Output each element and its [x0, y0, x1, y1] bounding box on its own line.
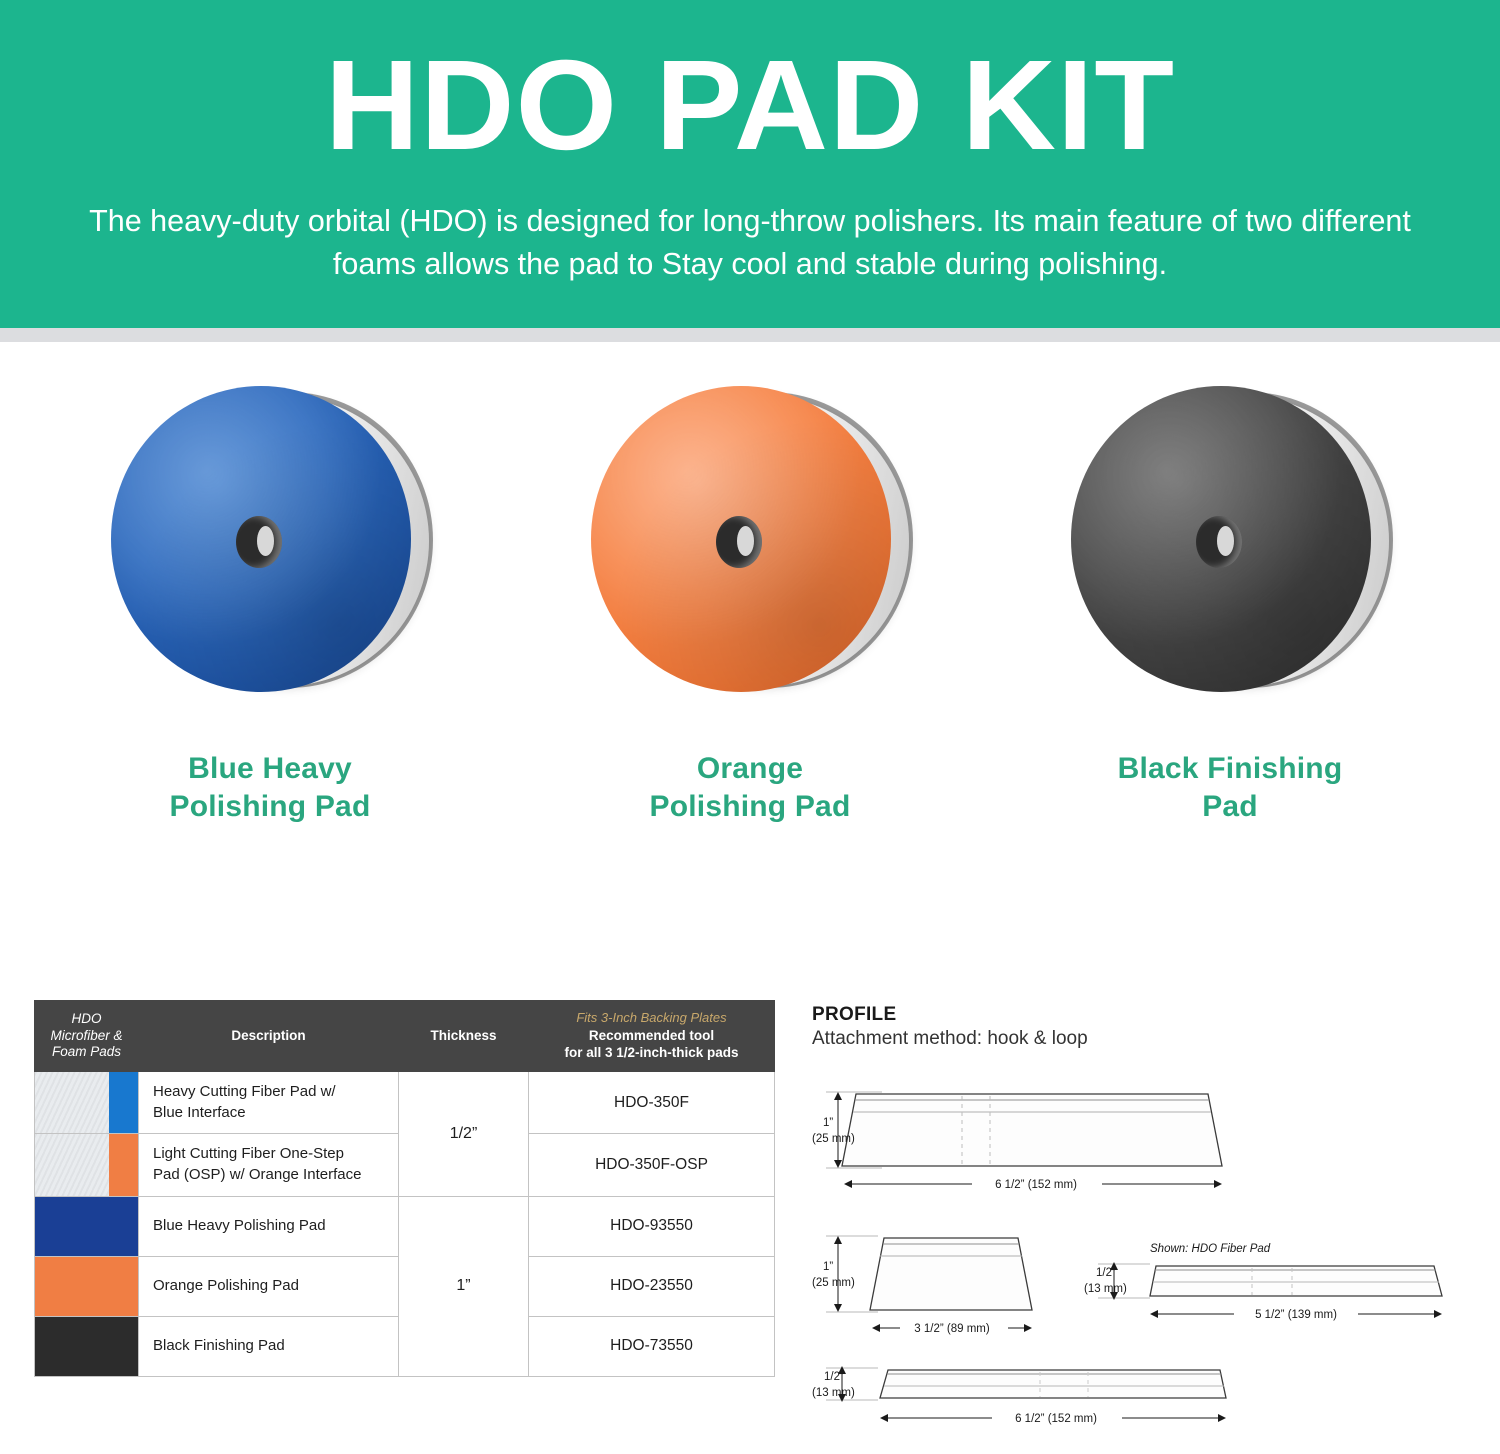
profile-figure-6half-thick: 6 1/2” (152 mm) 1” (25 mm) — [812, 1080, 1252, 1200]
swatch-header-line3: Foam Pads — [52, 1044, 121, 1059]
interface-stripe-orange — [109, 1134, 138, 1195]
page-title: HDO PAD KIT — [0, 42, 1500, 170]
pad-label-line1: Blue Heavy — [20, 750, 520, 788]
cell-description: Blue Heavy Polishing Pad — [139, 1196, 399, 1256]
spec-table-wrapper: HDO Microfiber & Foam Pads Description T… — [34, 1000, 774, 1377]
cell-description: Orange Polishing Pad — [139, 1256, 399, 1316]
fig2-width-label: 3 1/2” (89 mm) — [914, 1323, 990, 1335]
fig4-width-label: 6 1/2” (152 mm) — [1015, 1413, 1097, 1425]
description-line2: Blue Interface — [153, 1104, 246, 1121]
fig1-height-line2: (25 mm) — [812, 1133, 855, 1145]
swatch-solid-orange — [35, 1256, 139, 1316]
table-header-row: HDO Microfiber & Foam Pads Description T… — [35, 1001, 775, 1072]
swatch-fiber-orange — [35, 1134, 139, 1196]
cell-description: Light Cutting Fiber One-Step Pad (OSP) w… — [139, 1134, 399, 1196]
cell-tool: HDO-350F — [529, 1072, 775, 1134]
pad-label-line1: Black Finishing — [980, 750, 1480, 788]
pad-card-black: Black Finishing Pad — [980, 360, 1480, 920]
column-header-swatch: HDO Microfiber & Foam Pads — [35, 1001, 139, 1072]
header-banner: HDO PAD KIT The heavy-duty orbital (HDO)… — [0, 0, 1500, 328]
cell-tool: HDO-73550 — [529, 1316, 775, 1376]
column-header-thickness: Thickness — [399, 1001, 529, 1072]
pad-card-blue: Blue Heavy Polishing Pad — [20, 360, 520, 920]
table-row: Blue Heavy Polishing Pad 1” HDO-93550 — [35, 1196, 775, 1256]
fig1-height-line1: 1” — [823, 1117, 833, 1129]
swatch-header-line2: Microfiber & — [50, 1028, 122, 1043]
fig3-width-label: 5 1/2” (139 mm) — [1255, 1309, 1337, 1321]
pad-label-line2: Polishing Pad — [20, 788, 520, 826]
profile-figure-6half-thin: 6 1/2” (152 mm) 1/2” (13 mm) — [812, 1350, 1252, 1454]
cell-thickness-half-inch: 1/2” — [399, 1072, 529, 1197]
tool-header-line1: Recommended tool — [535, 1028, 768, 1045]
table-head: HDO Microfiber & Foam Pads Description T… — [35, 1001, 775, 1072]
table-row: Heavy Cutting Fiber Pad w/ Blue Interfac… — [35, 1072, 775, 1134]
solid-swatch-black — [35, 1317, 138, 1376]
description-line1: Light Cutting Fiber One-Step — [153, 1145, 344, 1162]
swatch-solid-black — [35, 1316, 139, 1376]
profile-attachment-method: Attachment method: hook & loop — [812, 1028, 1492, 1050]
cell-tool: HDO-350F-OSP — [529, 1134, 775, 1196]
swatch-fiber-blue — [35, 1072, 139, 1134]
pad-center-hole-highlight — [737, 526, 754, 556]
interface-stripe-blue — [109, 1072, 138, 1133]
profile-figure-fiber-pad: Shown: HDO Fiber Pad 5 1/2” (139 mm) 1/2… — [1074, 1232, 1494, 1342]
fig4-height-line2: (13 mm) — [812, 1387, 855, 1399]
cell-tool: HDO-23550 — [529, 1256, 775, 1316]
swatch-header-line1: HDO — [72, 1011, 102, 1026]
fiber-swatch — [35, 1072, 138, 1133]
table-body: Heavy Cutting Fiber Pad w/ Blue Interfac… — [35, 1072, 775, 1377]
pad-label-line2: Pad — [980, 788, 1480, 826]
swatch-solid-blue — [35, 1196, 139, 1256]
pad-label-orange: Orange Polishing Pad — [500, 750, 1000, 826]
fig2-height-line1: 1” — [823, 1261, 833, 1273]
pad-label-black: Black Finishing Pad — [980, 750, 1480, 826]
blue-polishing-pad-image — [105, 374, 435, 704]
fig3-note: Shown: HDO Fiber Pad — [1150, 1243, 1271, 1255]
header-subtitle: The heavy-duty orbital (HDO) is designed… — [50, 200, 1450, 287]
fiber-swatch — [35, 1134, 138, 1195]
fig4-height-line1: 1/2” — [824, 1371, 844, 1383]
fig3-height-line1: 1/2” — [1096, 1267, 1116, 1279]
profile-figure-3half-thick: 3 1/2” (89 mm) 1” (25 mm) — [812, 1224, 1112, 1344]
profile-figures: 6 1/2” (152 mm) 1” (25 mm) 3 1/2” (89 — [812, 1066, 1492, 1396]
fig1-width-label: 6 1/2” (152 mm) — [995, 1179, 1077, 1191]
profile-heading: PROFILE — [812, 1004, 1492, 1026]
pad-label-blue: Blue Heavy Polishing Pad — [20, 750, 520, 826]
profile-panel: PROFILE Attachment method: hook & loop — [812, 1004, 1492, 1396]
pad-center-hole-highlight — [257, 526, 274, 556]
cell-description: Heavy Cutting Fiber Pad w/ Blue Interfac… — [139, 1072, 399, 1134]
description-line1: Heavy Cutting Fiber Pad w/ — [153, 1083, 336, 1100]
pad-label-line2: Polishing Pad — [500, 788, 1000, 826]
fig3-height-line2: (13 mm) — [1084, 1283, 1127, 1295]
pad-showcase: Blue Heavy Polishing Pad Orange Polishin… — [0, 360, 1500, 920]
pad-center-hole-highlight — [1217, 526, 1234, 556]
tool-header-line2: for all 3 1/2-inch-thick pads — [535, 1045, 768, 1062]
cell-description: Black Finishing Pad — [139, 1316, 399, 1376]
description-line2: Pad (OSP) w/ Orange Interface — [153, 1166, 361, 1183]
fig2-height-line2: (25 mm) — [812, 1277, 855, 1289]
cell-tool: HDO-93550 — [529, 1196, 775, 1256]
column-header-tool: Fits 3-Inch Backing Plates Recommended t… — [529, 1001, 775, 1072]
pad-card-orange: Orange Polishing Pad — [500, 360, 1000, 920]
cell-thickness-one-inch: 1” — [399, 1196, 529, 1376]
solid-swatch-blue — [35, 1197, 138, 1256]
pad-label-line1: Orange — [500, 750, 1000, 788]
black-finishing-pad-image — [1065, 374, 1395, 704]
orange-polishing-pad-image — [585, 374, 915, 704]
header-divider-band — [0, 328, 1500, 342]
column-header-description: Description — [139, 1001, 399, 1072]
solid-swatch-orange — [35, 1257, 138, 1316]
hdo-pad-spec-table: HDO Microfiber & Foam Pads Description T… — [34, 1000, 775, 1377]
tool-header-subtitle: Fits 3-Inch Backing Plates — [535, 1010, 768, 1026]
